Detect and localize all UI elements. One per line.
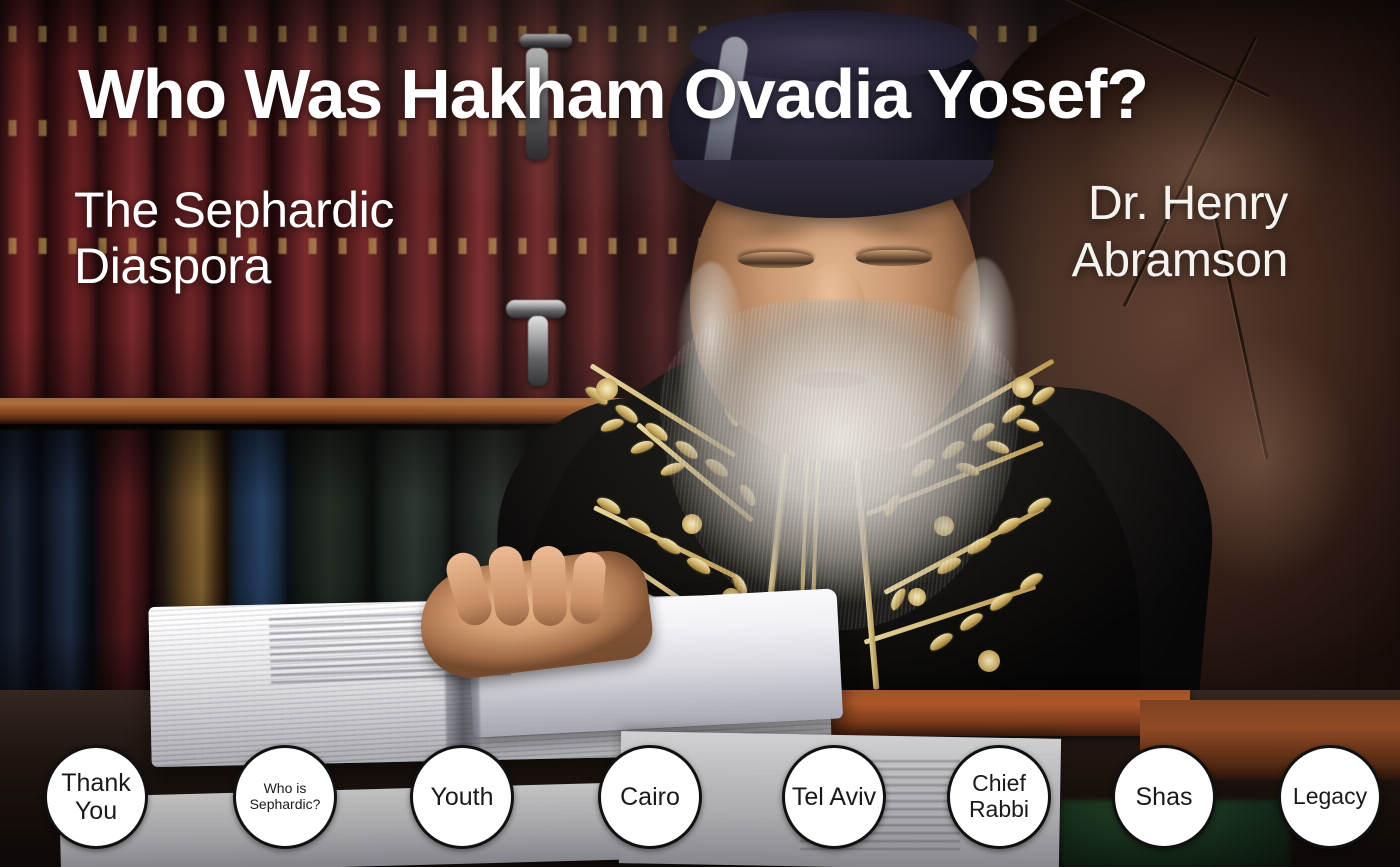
nav-circle-label: Thank You (53, 769, 139, 825)
nav-circle-label: Youth (430, 783, 493, 811)
nav-circle-legacy[interactable]: Legacy (1278, 745, 1382, 849)
nav-circle-label: Chief Rabbi (956, 771, 1042, 823)
nav-circle-youth[interactable]: Youth (410, 745, 514, 849)
nav-circle-label: Legacy (1293, 784, 1367, 810)
chapter-navigation: Thank YouWho is Sephardic?YouthCairoTel … (0, 0, 1400, 867)
nav-circle-chief-rabbi[interactable]: Chief Rabbi (947, 745, 1051, 849)
nav-circle-label: Who is Sephardic? (242, 781, 328, 812)
nav-circle-label: Shas (1136, 783, 1193, 811)
nav-circle-cairo[interactable]: Cairo (598, 745, 702, 849)
nav-circle-thank-you[interactable]: Thank You (44, 745, 148, 849)
nav-circle-who-is-sephardic[interactable]: Who is Sephardic? (233, 745, 337, 849)
presentation-slide: 121 (0, 0, 1400, 867)
nav-circle-label: Tel Aviv (792, 783, 876, 811)
nav-circle-tel-aviv[interactable]: Tel Aviv (782, 745, 886, 849)
nav-circle-label: Cairo (620, 783, 680, 811)
nav-circle-shas[interactable]: Shas (1112, 745, 1216, 849)
